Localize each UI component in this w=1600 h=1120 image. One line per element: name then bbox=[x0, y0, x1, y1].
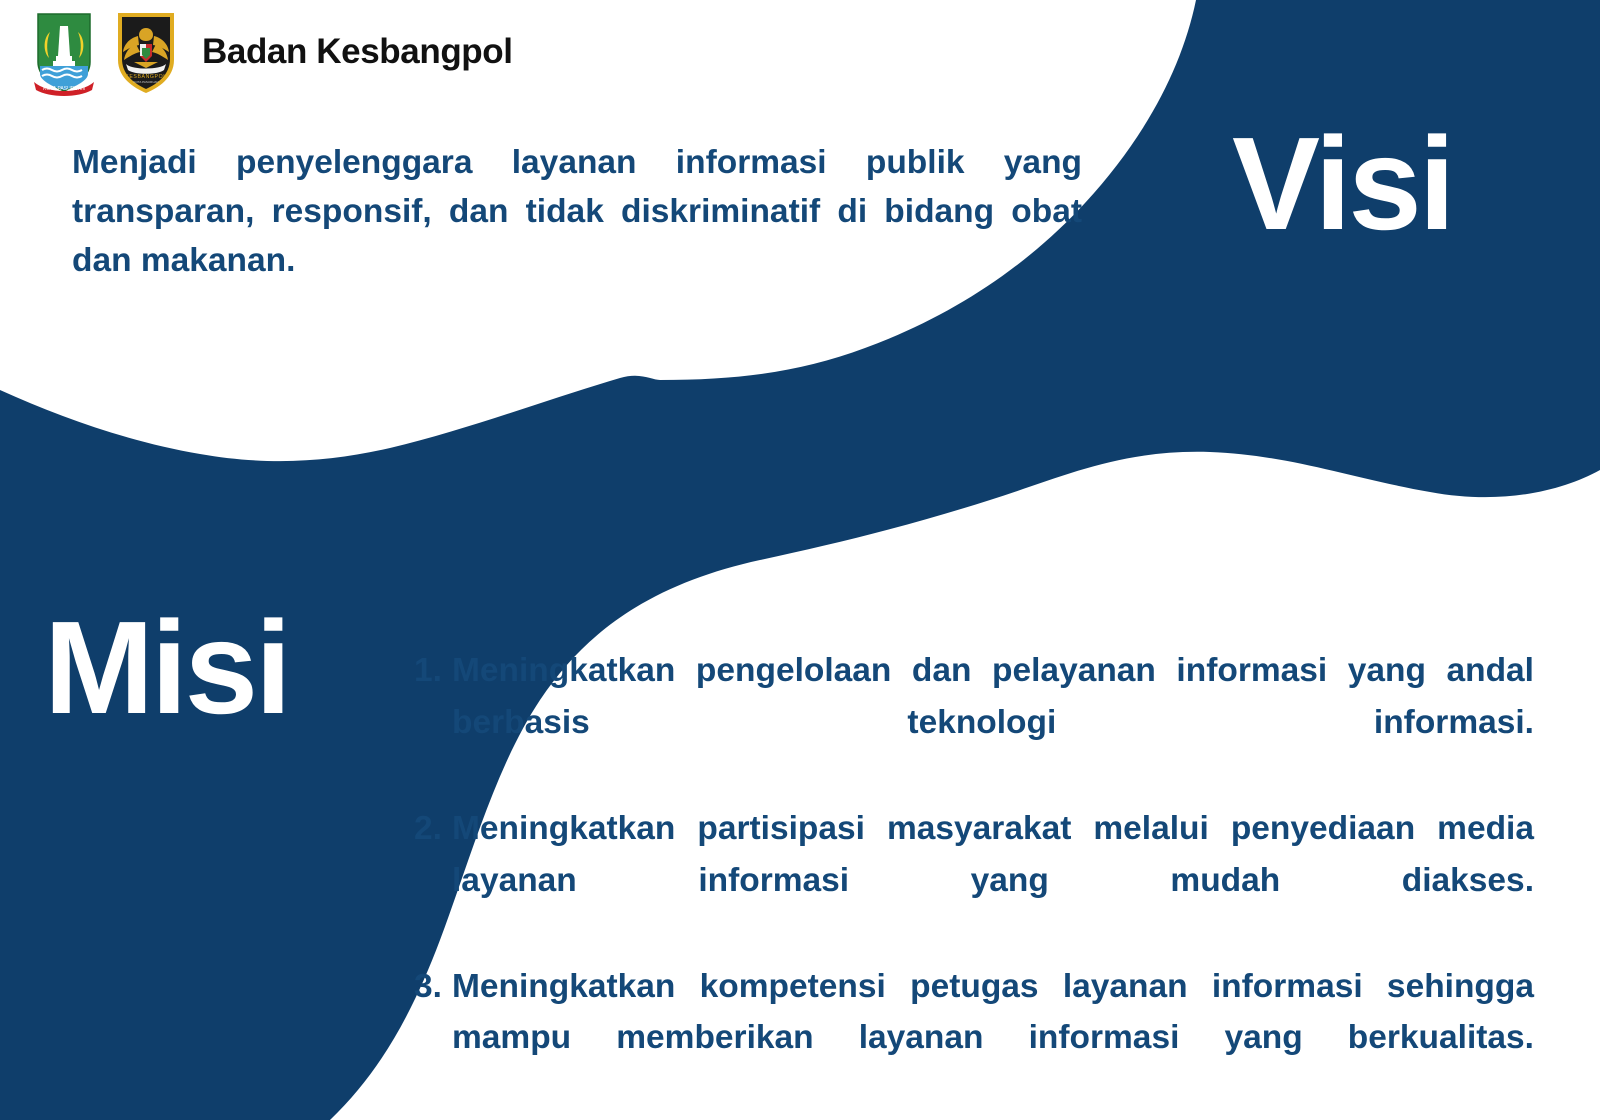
misi-item-text: Meningkatkan partisipasi masyarakat mela… bbox=[452, 803, 1534, 959]
misi-list: 1. Meningkatkan pengelolaan dan pelayana… bbox=[414, 645, 1534, 1118]
misi-list-item: 3. Meningkatkan kompetensi petugas layan… bbox=[414, 961, 1534, 1117]
kesbangpol-emblem-icon: KESBANGPOL KOTA PASURUAN bbox=[112, 8, 180, 96]
misi-list-item: 2. Meningkatkan partisipasi masyarakat m… bbox=[414, 803, 1534, 959]
misi-item-number: 2. bbox=[414, 803, 452, 855]
visi-paragraph: Menjadi penyelenggara layanan informasi … bbox=[72, 138, 1082, 286]
misi-list-item: 1. Meningkatkan pengelolaan dan pelayana… bbox=[414, 645, 1534, 801]
misi-item-number: 3. bbox=[414, 961, 452, 1013]
slide-canvas: KOTA PASURUAN KESBANGPOL KOTA PASURUAN B… bbox=[0, 0, 1600, 1120]
visi-heading: Visi bbox=[1232, 118, 1452, 250]
svg-text:KOTA PASURUAN: KOTA PASURUAN bbox=[133, 80, 158, 84]
visi-text: Menjadi penyelenggara layanan informasi … bbox=[72, 138, 1082, 286]
brand-bar: KOTA PASURUAN KESBANGPOL KOTA PASURUAN B… bbox=[30, 8, 513, 96]
kota-pasuruan-emblem-icon: KOTA PASURUAN bbox=[30, 8, 98, 96]
misi-item-number: 1. bbox=[414, 645, 452, 697]
misi-item-text: Meningkatkan kompetensi petugas layanan … bbox=[452, 961, 1534, 1117]
brand-title: Badan Kesbangpol bbox=[202, 32, 513, 72]
svg-text:KOTA PASURUAN: KOTA PASURUAN bbox=[43, 86, 85, 92]
misi-heading: Misi bbox=[44, 602, 289, 734]
misi-item-text: Meningkatkan pengelolaan dan pelayanan i… bbox=[452, 645, 1534, 801]
